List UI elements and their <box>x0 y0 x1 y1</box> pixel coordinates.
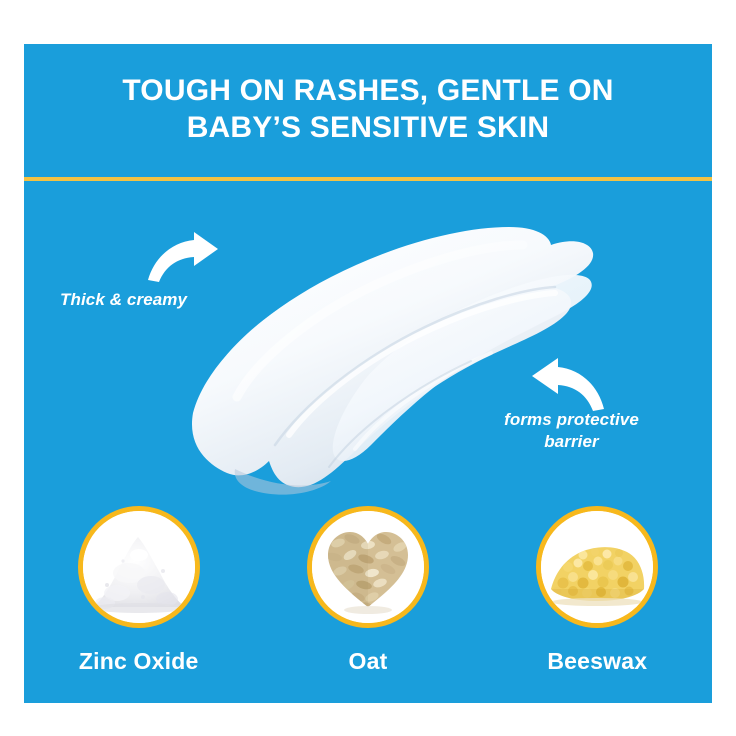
beeswax-pellets-image <box>536 506 658 628</box>
curved-arrow-left-icon <box>524 357 608 413</box>
oat-flakes-heart-image <box>307 506 429 628</box>
annotation-thick-creamy-text: Thick & creamy <box>60 290 187 309</box>
headline-line-1: TOUGH ON RASHES, GENTLE ON <box>24 72 712 109</box>
annotation-protective-barrier: forms protective barrier <box>464 409 679 453</box>
annotation-thick-creamy: Thick & creamy <box>60 289 250 311</box>
ingredient-zinc-oxide: Zinc Oxide <box>39 506 239 675</box>
gold-divider <box>24 177 712 181</box>
annotation-barrier-line-2: barrier <box>544 432 599 451</box>
ingredient-label-zinc-oxide: Zinc Oxide <box>39 648 239 675</box>
ingredient-list: Zinc Oxide <box>24 506 712 675</box>
blue-content-panel: TOUGH ON RASHES, GENTLE ON BABY’S SENSIT… <box>24 44 712 703</box>
ingredient-oat: Oat <box>268 506 468 675</box>
ingredient-beeswax: Beeswax <box>497 506 697 675</box>
zinc-oxide-powder-image <box>78 506 200 628</box>
ingredient-label-beeswax: Beeswax <box>497 648 697 675</box>
marketing-image: TOUGH ON RASHES, GENTLE ON BABY’S SENSIT… <box>0 0 736 736</box>
page-title: TOUGH ON RASHES, GENTLE ON BABY’S SENSIT… <box>24 72 712 146</box>
annotation-barrier-line-1: forms protective <box>504 410 639 429</box>
curved-arrow-right-icon <box>144 232 220 284</box>
cream-swatch-image <box>179 199 599 499</box>
ingredient-label-oat: Oat <box>268 648 468 675</box>
headline-line-2: BABY’S SENSITIVE SKIN <box>24 109 712 146</box>
